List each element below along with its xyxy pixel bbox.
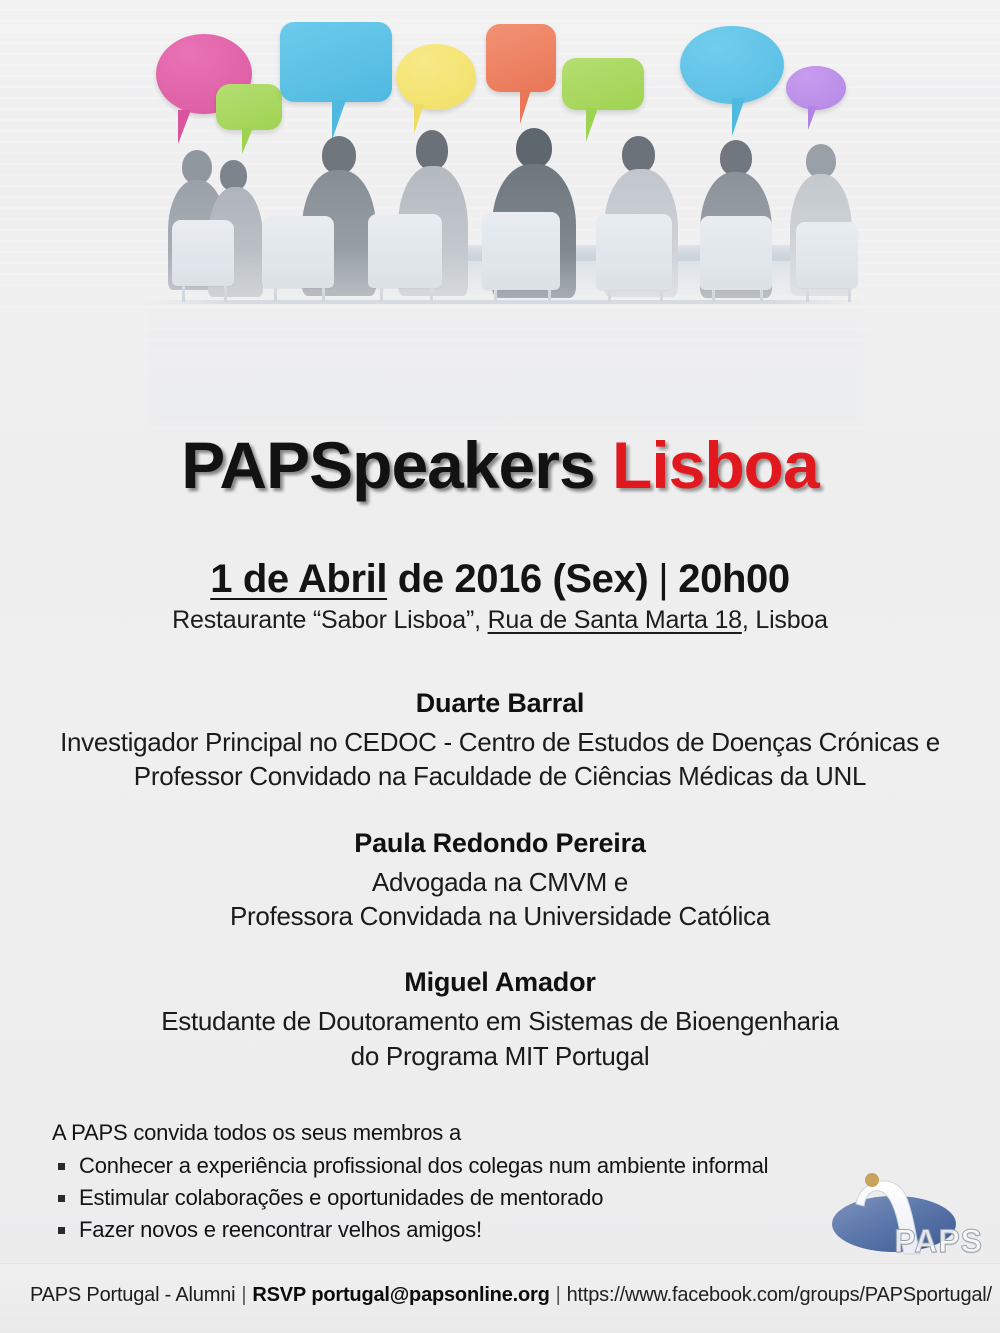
venue-name: Restaurante “Sabor Lisboa”, [172,606,487,634]
speech-bubble-yellow [396,44,476,110]
speaker-name: Paula Redondo Pereira [0,828,1000,859]
square-bullet-icon [58,1195,65,1202]
speaker-role-line: Investigador Principal no CEDOC - Centro… [0,725,1000,759]
list-item: Estimular colaborações e oportunidades d… [52,1185,882,1211]
venue-city: , Lisboa [742,606,828,634]
hero-image [0,0,1000,430]
footer-text: PAPS Portugal - Alumni|RSVP portugal@pap… [30,1284,992,1307]
list-item: Conhecer a experiência profissional dos … [52,1153,882,1179]
square-bullet-icon [58,1163,65,1170]
speaker-name: Duarte Barral [0,688,1000,719]
footer-separator: | [550,1284,567,1306]
footer-org: PAPS Portugal - Alumni [30,1284,235,1306]
speaker-item: Miguel Amador Estudante de Doutoramento … [0,967,1000,1073]
list-item: Fazer novos e reencontrar velhos amigos! [52,1217,882,1243]
page-title: PAPSpeakers Lisboa [0,432,1000,498]
list-item-label: Estimular colaborações e oportunidades d… [79,1185,603,1211]
footer-rsvp-email[interactable]: portugal@papsonline.org [311,1284,549,1306]
event-time: 20h00 [678,557,789,601]
title-accent: Lisboa [612,428,819,502]
event-date-rest: de 2016 (Sex) [387,557,648,601]
speech-bubble-green [562,58,644,110]
speaker-name: Miguel Amador [0,967,1000,998]
speaker-role-line: Estudante de Doutoramento em Sistemas de… [0,1004,1000,1038]
title-main: PAPSpeakers [181,428,594,502]
square-bullet-icon [58,1227,65,1234]
speaker-role-line: Professora Convidada na Universidade Cat… [0,899,1000,933]
paps-logo: PAPS [820,1158,985,1270]
date-time-separator: | [648,557,678,601]
event-venue-line: Restaurante “Sabor Lisboa”, Rua de Santa… [0,606,1000,635]
paps-logo-text: PAPS [894,1223,983,1260]
footer-facebook-url[interactable]: https://www.facebook.com/groups/PAPSport… [567,1284,992,1306]
hero-fade-overlay [0,250,1000,430]
speaker-role-line: do Programa MIT Portugal [0,1039,1000,1073]
speech-bubble-purple [786,66,846,110]
speaker-item: Duarte Barral Investigador Principal no … [0,688,1000,794]
speech-bubble-orange [486,24,556,92]
event-date-line: 1 de Abril de 2016 (Sex)|20h00 [0,556,1000,602]
speech-bubble-green-small [216,84,282,130]
footer-separator: | [235,1284,252,1306]
event-date-underlined: 1 de Abril [210,557,387,601]
poster-root: PAPSpeakers Lisboa 1 de Abril de 2016 (S… [0,0,1000,1333]
speech-bubble-blue-large [280,22,392,102]
speaker-role-line: Advogada na CMVM e [0,865,1000,899]
invite-lead: A PAPS convida todos os seus membros a [52,1120,882,1146]
invite-block: A PAPS convida todos os seus membros a C… [52,1120,882,1249]
list-item-label: Conhecer a experiência profissional dos … [79,1153,768,1179]
list-item-label: Fazer novos e reencontrar velhos amigos! [79,1217,482,1243]
event-details: 1 de Abril de 2016 (Sex)|20h00 Restauran… [0,556,1000,635]
footer-rsvp-label: RSVP [252,1284,306,1306]
speech-bubble-blue [680,26,784,104]
speaker-role-line: Professor Convidado na Faculdade de Ciên… [0,759,1000,793]
speaker-item: Paula Redondo Pereira Advogada na CMVM e… [0,828,1000,934]
speakers-list: Duarte Barral Investigador Principal no … [0,688,1000,1107]
venue-address: Rua de Santa Marta 18 [488,606,742,634]
